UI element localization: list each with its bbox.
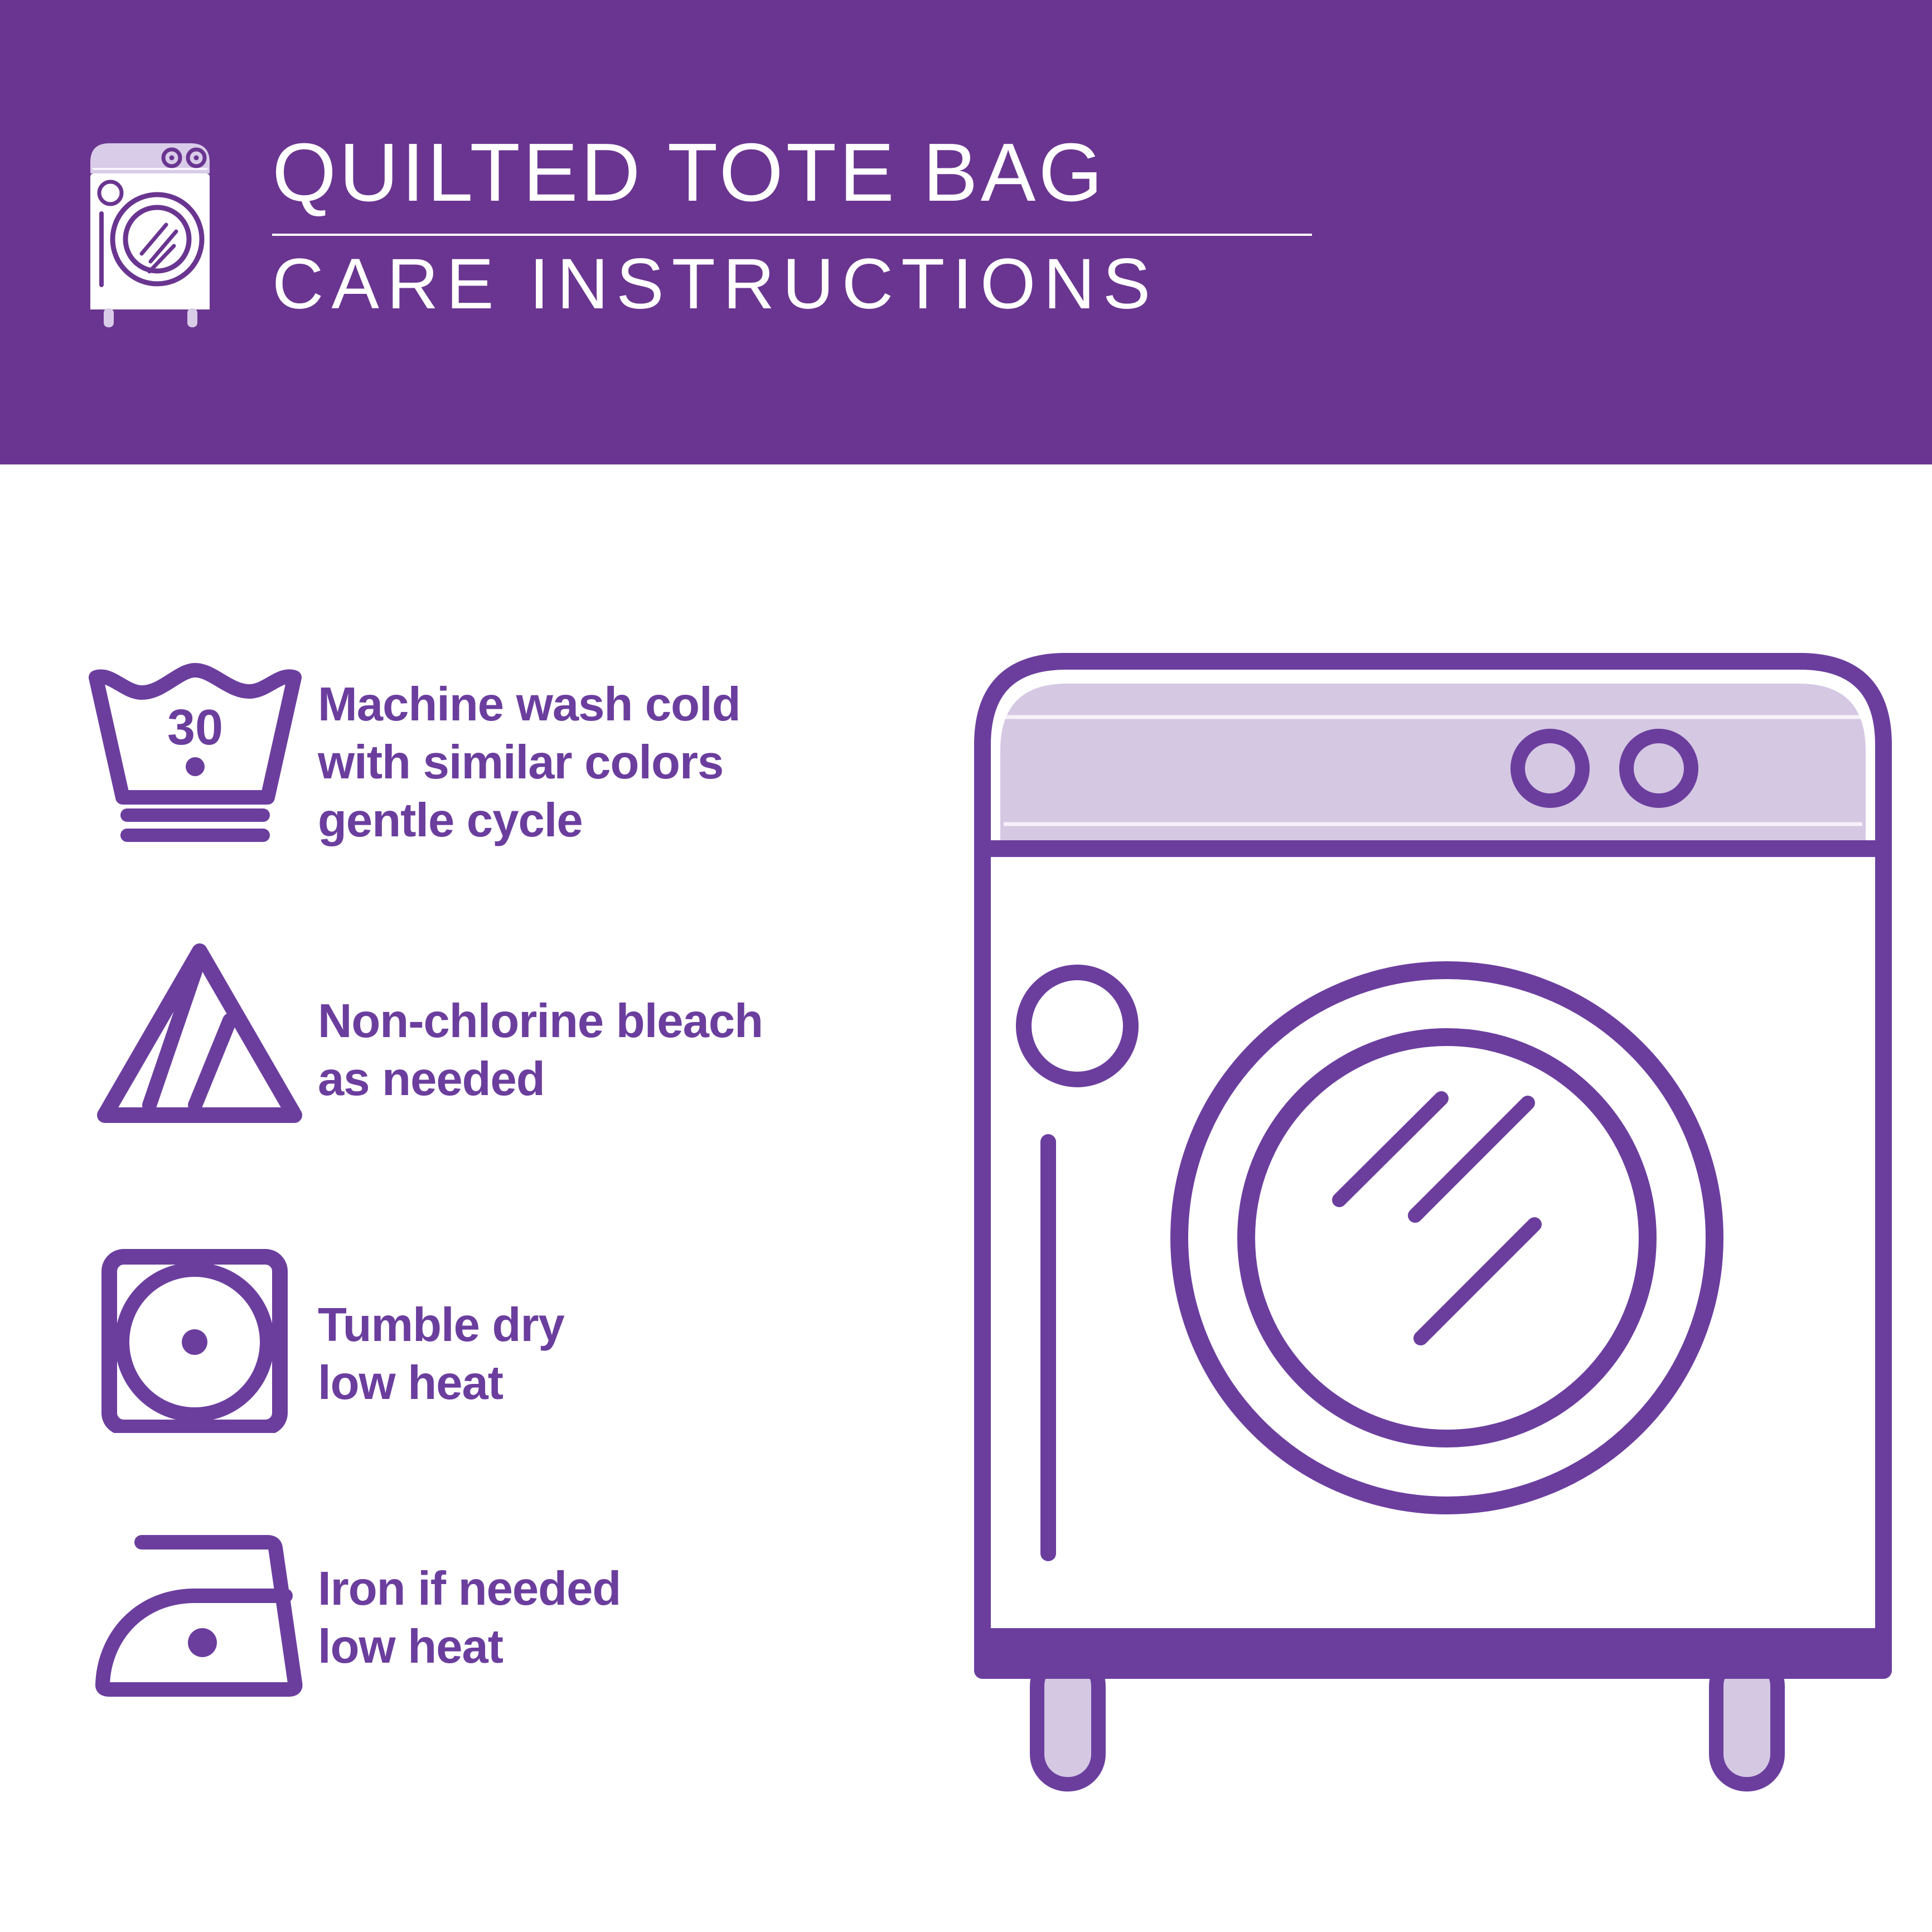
tumble-dry-low-heat-icon xyxy=(84,1243,307,1433)
care-row: Tumble dry low heat xyxy=(84,1243,892,1528)
iron-heat-dot xyxy=(188,1628,217,1657)
page-title: QUILTED TOTE BAG xyxy=(272,125,1338,229)
care-instructions-page: QUILTED TOTE BAG CARE INSTRUCTIONS 30 xyxy=(0,0,1932,1932)
care-label: Non-chlorine bleach as needed xyxy=(318,931,763,1108)
care-row: Non-chlorine bleach as needed xyxy=(84,931,892,1243)
washing-machine-icon xyxy=(78,135,245,328)
knob-right-icon xyxy=(1626,736,1691,801)
care-symbol-slot: 30 xyxy=(84,658,318,842)
care-label-line: with similar colors xyxy=(318,734,740,792)
care-label-line: low heat xyxy=(318,1618,621,1676)
care-instructions-list: 30 Machine wash cold with similar colors… xyxy=(84,658,892,1762)
knob-left-icon xyxy=(1518,736,1582,801)
wash-temp-dot xyxy=(186,757,205,776)
header-band: QUILTED TOTE BAG CARE INSTRUCTIONS xyxy=(0,0,1932,464)
care-label-line: as needed xyxy=(318,1050,763,1108)
iron-low-heat-icon xyxy=(84,1528,318,1706)
care-label-line: Tumble dry xyxy=(318,1296,564,1354)
care-row: Iron if needed low heat xyxy=(84,1528,892,1762)
care-label-line: gentle cycle xyxy=(318,792,740,850)
care-row: 30 Machine wash cold with similar colors… xyxy=(84,658,892,931)
care-label: Tumble dry low heat xyxy=(318,1243,564,1412)
care-label: Iron if needed low heat xyxy=(318,1528,621,1676)
machine-base-bar xyxy=(982,1628,1883,1670)
care-label: Machine wash cold with similar colors ge… xyxy=(318,658,740,850)
care-symbol-slot xyxy=(84,1528,318,1706)
care-label-line: Non-chlorine bleach xyxy=(318,992,763,1050)
care-symbol-slot xyxy=(84,1243,318,1433)
non-chlorine-bleach-triangle-icon xyxy=(84,931,307,1132)
care-label-line: low heat xyxy=(318,1354,564,1412)
header-inner: QUILTED TOTE BAG CARE INSTRUCTIONS xyxy=(78,125,1338,348)
wash-temperature-value: 30 xyxy=(167,700,223,756)
care-symbol-slot xyxy=(84,931,318,1132)
header-divider xyxy=(272,234,1312,236)
page-subtitle: CARE INSTRUCTIONS xyxy=(272,243,1338,326)
machine-control-panel xyxy=(985,684,1881,849)
header-text-block: QUILTED TOTE BAG CARE INSTRUCTIONS xyxy=(272,125,1338,348)
front-load-washing-machine-illustration xyxy=(965,630,1901,1879)
wash-tub-30-gentle-icon: 30 xyxy=(84,658,307,842)
care-label-line: Machine wash cold xyxy=(318,676,740,734)
care-label-line: Iron if needed xyxy=(318,1560,621,1618)
